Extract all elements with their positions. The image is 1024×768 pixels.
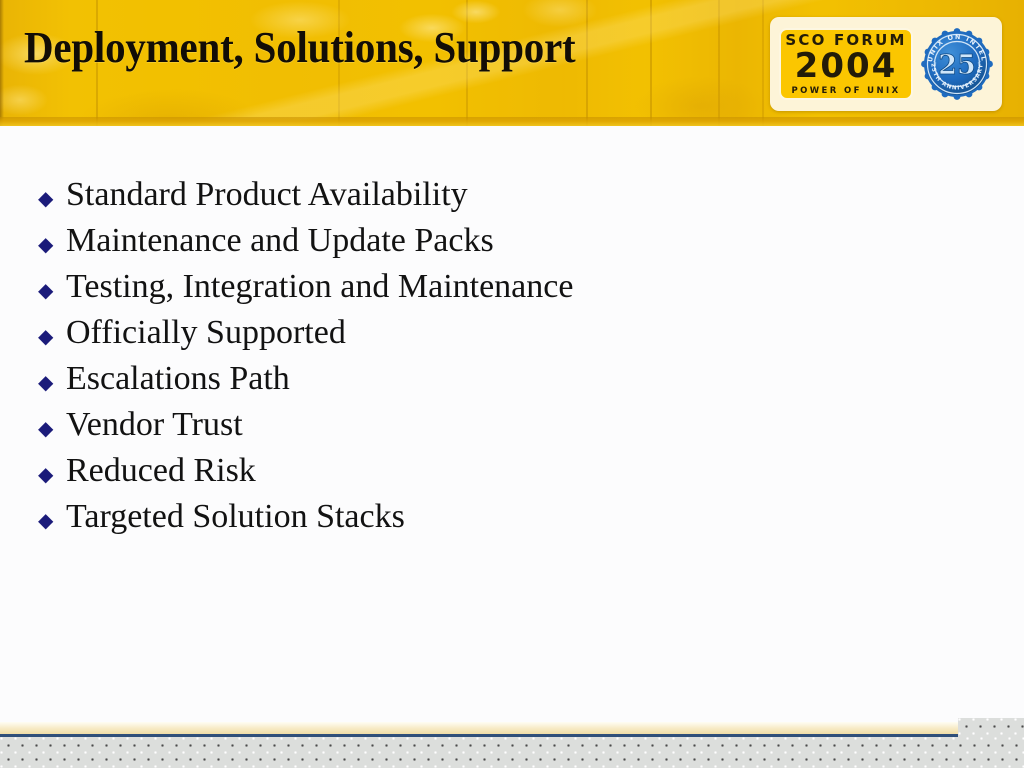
slide-body: ◆ Standard Product Availability ◆ Mainte… bbox=[0, 126, 1024, 722]
page-title: Deployment, Solutions, Support bbox=[24, 22, 576, 74]
list-item: ◆ Maintenance and Update Packs bbox=[38, 218, 573, 264]
list-item: ◆ Targeted Solution Stacks bbox=[38, 494, 573, 540]
diamond-bullet-icon: ◆ bbox=[38, 497, 66, 543]
diamond-bullet-icon: ◆ bbox=[38, 221, 66, 267]
diamond-bullet-icon: ◆ bbox=[38, 359, 66, 405]
list-item-label: Targeted Solution Stacks bbox=[66, 494, 405, 540]
list-item: ◆ Testing, Integration and Maintenance bbox=[38, 264, 573, 310]
list-item-label: Maintenance and Update Packs bbox=[66, 218, 494, 264]
bullet-list: ◆ Standard Product Availability ◆ Mainte… bbox=[38, 172, 573, 540]
header-bottom-edge bbox=[0, 117, 1024, 126]
slide-header-banner: Deployment, Solutions, Support SCO FORUM… bbox=[0, 0, 1024, 126]
header-left-edge bbox=[0, 0, 4, 126]
footer-cream-strip bbox=[0, 722, 958, 734]
diamond-bullet-icon: ◆ bbox=[38, 313, 66, 359]
diamond-bullet-icon: ◆ bbox=[38, 451, 66, 497]
seal-number-text: 25 bbox=[938, 50, 976, 81]
forum-year-text: 2004 bbox=[795, 49, 898, 83]
list-item: ◆ Escalations Path bbox=[38, 356, 573, 402]
list-item-label: Testing, Integration and Maintenance bbox=[66, 264, 573, 310]
sco-forum-logo: SCO FORUM 2004 POWER OF UNIX bbox=[770, 17, 1002, 111]
list-item: ◆ Officially Supported bbox=[38, 310, 573, 356]
anniversary-seal-icon: UNIX ON INTEL 25TH ANNIVERSARY 25 bbox=[921, 28, 993, 100]
list-item-label: Vendor Trust bbox=[66, 402, 243, 448]
footer-pattern-band bbox=[0, 737, 1024, 768]
list-item: ◆ Vendor Trust bbox=[38, 402, 573, 448]
list-item-label: Standard Product Availability bbox=[66, 172, 468, 218]
forum-plate: SCO FORUM 2004 POWER OF UNIX bbox=[779, 28, 913, 100]
list-item-label: Officially Supported bbox=[66, 310, 346, 356]
forum-tagline-text: POWER OF UNIX bbox=[791, 86, 900, 97]
list-item: ◆ Reduced Risk bbox=[38, 448, 573, 494]
diamond-bullet-icon: ◆ bbox=[38, 405, 66, 451]
diamond-bullet-icon: ◆ bbox=[38, 175, 66, 221]
list-item: ◆ Standard Product Availability bbox=[38, 172, 573, 218]
presentation-slide: Deployment, Solutions, Support SCO FORUM… bbox=[0, 0, 1024, 768]
diamond-bullet-icon: ◆ bbox=[38, 267, 66, 313]
list-item-label: Escalations Path bbox=[66, 356, 290, 402]
list-item-label: Reduced Risk bbox=[66, 448, 256, 494]
